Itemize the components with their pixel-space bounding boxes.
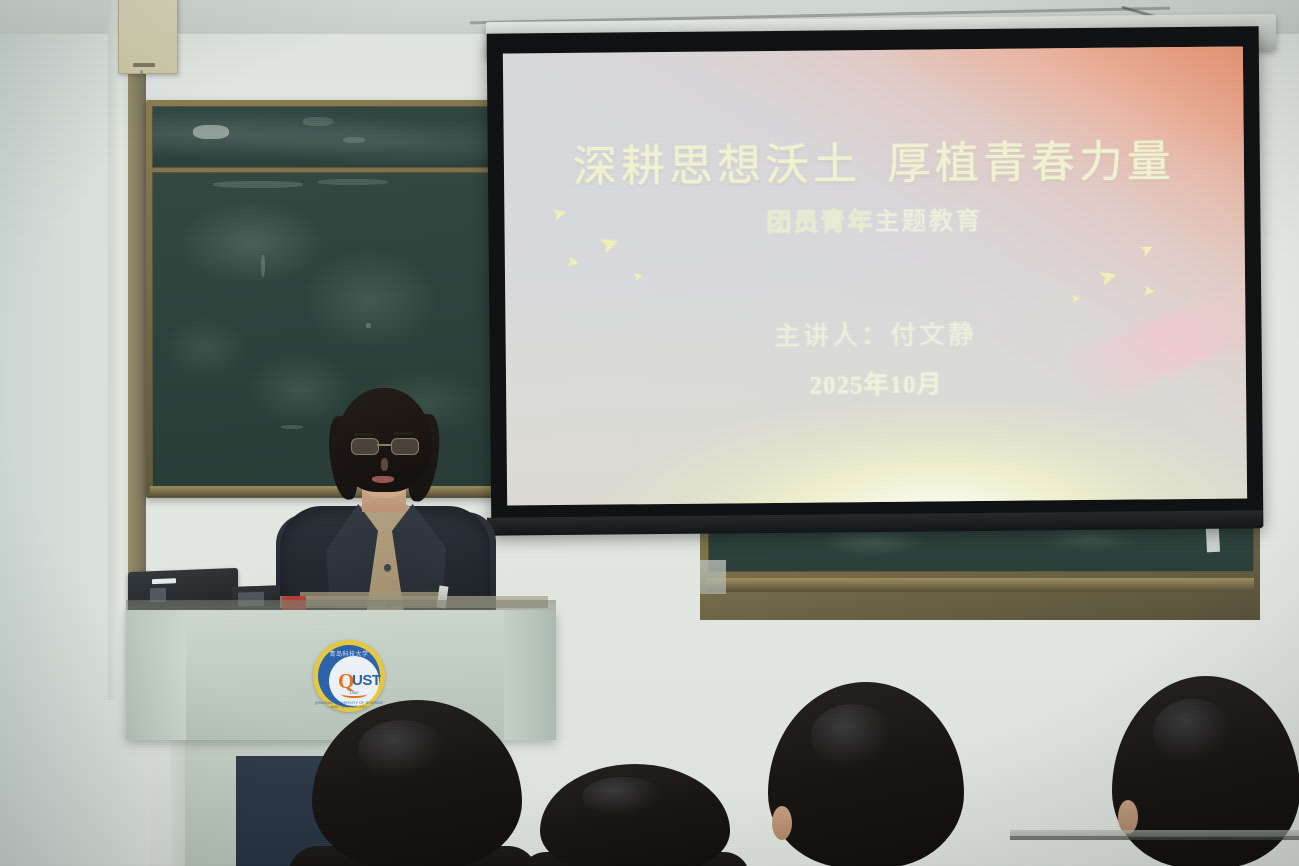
bird-5-icon: ➤	[1138, 240, 1157, 260]
wall-pilaster	[108, 0, 130, 700]
qust-logo-year: 1950	[329, 690, 379, 695]
glasses-icon	[350, 438, 420, 454]
coat-button-1	[384, 564, 391, 571]
microphone-base	[424, 582, 440, 589]
bird-6-icon: ➤	[1096, 264, 1120, 290]
speaker-wire	[140, 70, 143, 92]
right-blackboard-end-cap	[700, 560, 726, 594]
presenter-brow-right	[393, 432, 413, 435]
presenter-nose	[381, 458, 388, 471]
right-blackboard-ledge	[706, 578, 1254, 592]
qust-logo: 青岛科技大学 Q UST 1950 QINGDAO UNIVERSITY OF …	[313, 640, 385, 712]
slide-title: 深耕思想沃土厚植青春力量	[504, 124, 1245, 195]
slide-subtitle-thin: 主题教育	[874, 208, 982, 236]
presenter-mouth	[372, 476, 394, 483]
laptop-label-sticker	[152, 578, 176, 584]
slide-title-part1: 深耕思想沃土	[573, 140, 861, 192]
slide-speaker-line: 主讲人：付文静	[505, 311, 1245, 355]
qust-logo-inner-disc: Q UST 1950	[329, 656, 379, 706]
blackboard-upper-panel	[152, 106, 504, 168]
presenter-brow-left	[354, 433, 374, 436]
bird-8-icon: ➤	[1071, 294, 1081, 306]
slide-title-part2: 厚植青春力量	[887, 137, 1175, 189]
slide-subtitle-bold: 团员青年	[766, 209, 874, 237]
bird-3-icon: ➤	[566, 254, 581, 271]
classroom-lecture-photo: Reser ➤ ➤ ➤ ➤ ➤ ➤ ➤ ➤ 深耕思想沃土厚植青春力量 团员青年主…	[0, 0, 1299, 866]
projected-slide: ➤ ➤ ➤ ➤ ➤ ➤ ➤ ➤ 深耕思想沃土厚植青春力量 团员青年主题教育 主讲…	[503, 46, 1247, 505]
audience-ear-4	[1118, 800, 1138, 834]
qust-logo-blue-ring: 青岛科技大学 Q UST 1950	[318, 645, 380, 707]
audience-ear-3	[772, 806, 792, 840]
qust-logo-ust-letters: UST	[352, 672, 381, 689]
wall-pilaster-dark-strip	[128, 46, 146, 656]
wall-speaker-icon	[118, 0, 178, 74]
rear-wall-dark-line	[1010, 836, 1299, 840]
slide-date-line: 2025年10月	[506, 361, 1246, 404]
bird-4-icon: ➤	[632, 270, 643, 283]
slide-subtitle: 团员青年主题教育	[504, 198, 1244, 241]
bird-7-icon: ➤	[1143, 283, 1156, 298]
